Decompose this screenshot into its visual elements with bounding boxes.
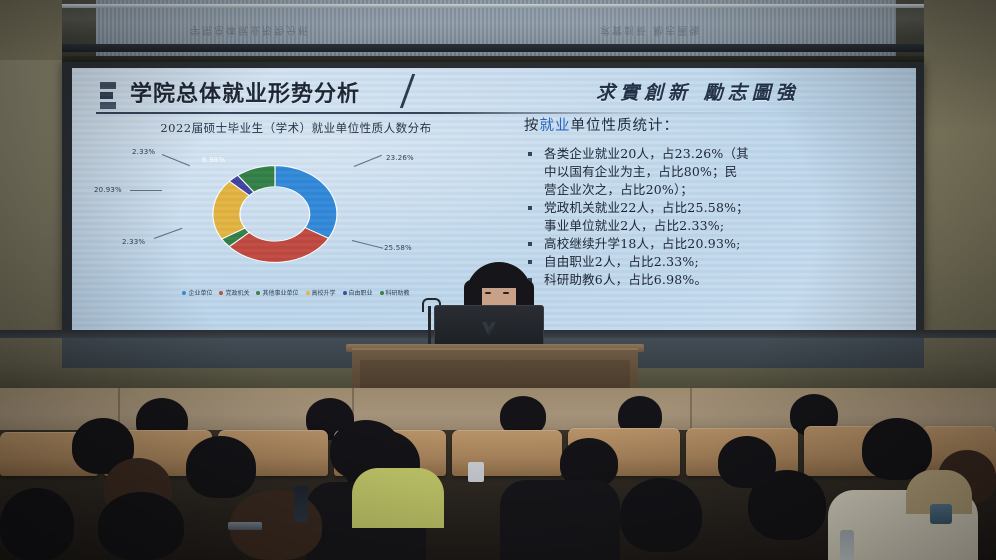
water-bottle xyxy=(840,530,854,560)
phone-device xyxy=(228,522,262,530)
audience-shoulders-yellow xyxy=(352,468,444,528)
label-other-institution-pct: 2.33% xyxy=(122,238,145,246)
heading-suffix: 单位性质统计： xyxy=(571,118,680,134)
cup xyxy=(930,504,952,524)
label-further-study-pct: 20.93% xyxy=(94,186,122,194)
bullet-item: 高校继续升学18人，占比20.93%; xyxy=(524,235,900,252)
slide-text-column: 按就业单位性质统计： 各类企业就业20人，占23.26%（其 中以国有企业为主，… xyxy=(524,114,900,289)
chart-legend: 企业单位 党政机关 其他事业单位 高校升学 自由职业 xyxy=(86,288,506,297)
chart-title: 2022届硕士毕业生（学术）就业单位性质人数分布 xyxy=(86,120,506,136)
bullet-item-continuation: 中以国有企业为主，占比80%；民 xyxy=(524,163,900,180)
ceiling-rail-top xyxy=(0,4,996,8)
audience-head xyxy=(98,492,184,560)
presenter-eye-left xyxy=(485,292,491,294)
wall-left-lower xyxy=(0,60,62,330)
slide-title-bar: 学院总体就业形势分析 求實創新 勵志圖強 xyxy=(88,76,900,116)
label-enterprise-pct: 23.26% xyxy=(386,154,414,162)
legend-swatch-icon xyxy=(219,291,223,295)
title-marker-icon xyxy=(100,82,116,110)
bullet-item: 党政机关就业22人，占比25.58%； xyxy=(524,199,900,216)
heading-highlight: 就业 xyxy=(540,118,571,134)
label-research-assistant-pct: 6.98% xyxy=(202,156,225,164)
legend-swatch-icon xyxy=(380,291,384,295)
legend-item-party-government: 党政机关 xyxy=(219,288,249,297)
legend-label: 高校升学 xyxy=(312,288,336,297)
legend-item-freelance: 自由职业 xyxy=(343,288,373,297)
leader-line-further-study xyxy=(130,190,162,191)
slide-motto: 求實創新 勵志圖強 xyxy=(596,78,800,105)
audience-head xyxy=(186,436,256,498)
legend-swatch-icon xyxy=(182,291,186,295)
legend-label: 其他事业单位 xyxy=(262,288,298,297)
ceiling-reflection-right: 求實創新 勵志圖強 xyxy=(600,24,701,39)
legend-item-other-institution: 其他事业单位 xyxy=(256,288,298,297)
legend-item-further-study: 高校升学 xyxy=(306,288,336,297)
lecture-hall-scene: 学院总体就业形势分析 求實創新 勵志圖強 学院总体就业形势分析 求實創新 勵志圖… xyxy=(0,0,996,560)
audience-head xyxy=(862,418,932,480)
water-bottle xyxy=(294,486,308,522)
wall-right xyxy=(924,0,996,330)
audience-head xyxy=(0,488,74,560)
audience-shoulders xyxy=(500,480,620,560)
slide-heading: 按就业单位性质统计： xyxy=(524,114,900,135)
bullet-item: 各类企业就业20人，占23.26%（其 xyxy=(524,145,900,162)
audience-head xyxy=(620,478,702,552)
label-party-government-pct: 25.58% xyxy=(384,244,412,252)
ceiling-reflection-left: 学院总体就业形势分析 xyxy=(190,24,310,39)
legend-label: 企业单位 xyxy=(188,288,212,297)
slide-title: 学院总体就业形势分析 xyxy=(130,76,360,108)
donut-chart-svg xyxy=(180,144,370,284)
label-freelance-pct: 2.33% xyxy=(132,148,155,156)
legend-item-research-assistant: 科研助教 xyxy=(380,288,410,297)
ceiling-beam xyxy=(0,44,996,52)
heading-prefix: 按 xyxy=(524,118,540,134)
donut-chart xyxy=(180,144,370,284)
legend-swatch-icon xyxy=(343,291,347,295)
legend-label: 党政机关 xyxy=(225,288,249,297)
bullet-item-continuation: 事业单位就业2人，占比2.33%; xyxy=(524,217,900,234)
bullet-item: 自由职业2人，占比2.33%; xyxy=(524,253,900,270)
chart-region: 2022届硕士毕业生（学术）就业单位性质人数分布 xyxy=(86,120,506,320)
slice-enterprise xyxy=(275,166,337,239)
leader-line-other-institution xyxy=(154,228,183,239)
legend-swatch-icon xyxy=(256,291,260,295)
presenter-eye-right xyxy=(503,292,509,294)
paper-sheet xyxy=(468,462,484,482)
bullet-item-continuation: 营企业次之，占比20%）； xyxy=(524,181,900,198)
legend-swatch-icon xyxy=(306,291,310,295)
bullet-item: 科研助教6人，占比6.98%。 xyxy=(524,271,900,288)
legend-item-enterprise: 企业单位 xyxy=(182,288,212,297)
legend-label: 科研助教 xyxy=(386,288,410,297)
audience-head xyxy=(748,470,826,540)
legend-label: 自由职业 xyxy=(349,288,373,297)
title-slash-decoration xyxy=(400,74,415,108)
slide-bullet-list: 各类企业就业20人，占23.26%（其 中以国有企业为主，占比80%；民 营企业… xyxy=(524,145,900,288)
